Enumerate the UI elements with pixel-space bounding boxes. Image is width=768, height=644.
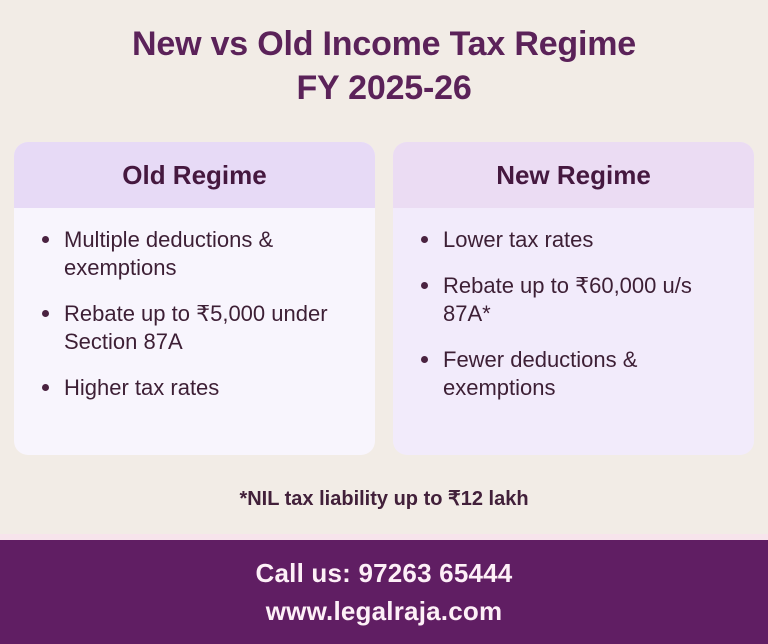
footer-website[interactable]: www.legalraja.com <box>266 592 503 630</box>
list-item-label: Higher tax rates <box>64 375 219 400</box>
list-item-label: Fewer deductions & exemptions <box>443 347 637 400</box>
bullet-dot-icon <box>421 356 428 363</box>
list-item-label: Lower tax rates <box>443 227 593 252</box>
card-old-regime-title: Old Regime <box>122 160 266 190</box>
card-new-regime-header: New Regime <box>393 142 754 208</box>
card-new-regime: New Regime Lower tax rates Rebate up to … <box>393 142 754 455</box>
list-item: Higher tax rates <box>40 374 359 402</box>
comparison-cards: Old Regime Multiple deductions & exempti… <box>14 142 754 455</box>
list-item: Multiple deductions & exemptions <box>40 226 359 282</box>
card-old-regime: Old Regime Multiple deductions & exempti… <box>14 142 375 455</box>
list-item-label: Rebate up to ₹5,000 under Section 87A <box>64 301 328 354</box>
footnote: *NIL tax liability up to ₹12 lakh <box>0 485 768 513</box>
bullet-dot-icon <box>42 310 49 317</box>
bullet-dot-icon <box>42 236 49 243</box>
list-item: Rebate up to ₹60,000 u/s 87A* <box>419 272 738 328</box>
list-item: Lower tax rates <box>419 226 738 254</box>
infographic-canvas: New vs Old Income Tax Regime FY 2025-26 … <box>0 0 768 644</box>
title-line-2: FY 2025-26 <box>0 66 768 110</box>
card-new-regime-body: Lower tax rates Rebate up to ₹60,000 u/s… <box>393 208 754 455</box>
page-title: New vs Old Income Tax Regime FY 2025-26 <box>0 22 768 110</box>
list-item: Fewer deductions & exemptions <box>419 346 738 402</box>
contact-footer: Call us: 97263 65444 www.legalraja.com <box>0 540 768 644</box>
list-item-label: Rebate up to ₹60,000 u/s 87A* <box>443 273 692 326</box>
old-regime-bullet-list: Multiple deductions & exemptions Rebate … <box>40 226 359 402</box>
card-old-regime-body: Multiple deductions & exemptions Rebate … <box>14 208 375 455</box>
new-regime-bullet-list: Lower tax rates Rebate up to ₹60,000 u/s… <box>419 226 738 402</box>
card-new-regime-title: New Regime <box>496 160 651 190</box>
card-old-regime-header: Old Regime <box>14 142 375 208</box>
footer-phone[interactable]: Call us: 97263 65444 <box>256 554 513 592</box>
list-item: Rebate up to ₹5,000 under Section 87A <box>40 300 359 356</box>
bullet-dot-icon <box>421 282 428 289</box>
list-item-label: Multiple deductions & exemptions <box>64 227 273 280</box>
title-line-1: New vs Old Income Tax Regime <box>0 22 768 66</box>
bullet-dot-icon <box>421 236 428 243</box>
bullet-dot-icon <box>42 384 49 391</box>
